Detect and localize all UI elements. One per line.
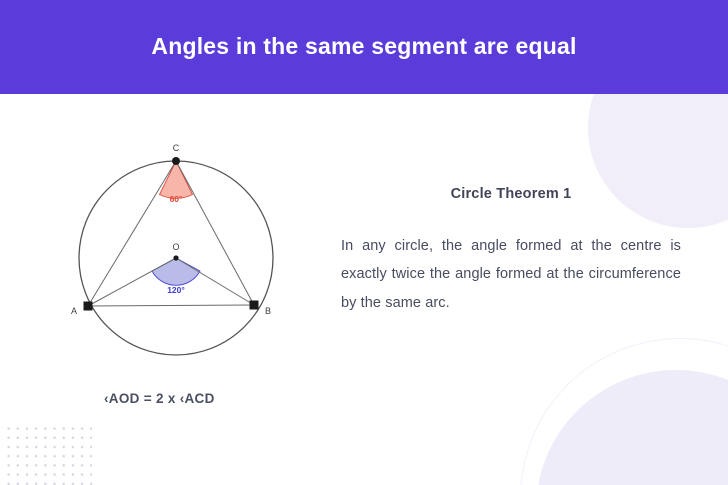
angle-sector-o (152, 258, 200, 285)
segment-c-a (88, 161, 176, 306)
theorem-body: In any circle, the angle formed at the c… (341, 232, 681, 317)
circle-diagram: C A B O 60° 120° (50, 140, 310, 380)
vertex-marker-c (172, 157, 180, 165)
angle-label-60: 60° (170, 194, 183, 204)
circle-diagram-svg: C A B O 60° 120° (50, 140, 310, 380)
header-band: Angles in the same segment are equal (0, 0, 728, 94)
point-label-a: A (71, 306, 77, 316)
angle-label-120: 120° (167, 285, 185, 295)
point-label-b: B (265, 306, 271, 316)
equation-caption: ‹AOD = 2 x ‹ACD (104, 391, 215, 406)
theorem-heading: Circle Theorem 1 (341, 186, 681, 202)
point-label-o: O (172, 242, 179, 252)
point-label-c: C (173, 143, 180, 153)
segment-c-b (176, 161, 254, 305)
segment-a-b (88, 305, 254, 306)
vertex-marker-o (173, 255, 178, 260)
vertex-marker-b (250, 301, 259, 310)
theorem-panel: Circle Theorem 1 In any circle, the angl… (341, 186, 681, 317)
vertex-marker-a (84, 302, 93, 311)
slide-root: Angles in the same segment are equal (0, 0, 728, 485)
page-title: Angles in the same segment are equal (151, 33, 576, 61)
